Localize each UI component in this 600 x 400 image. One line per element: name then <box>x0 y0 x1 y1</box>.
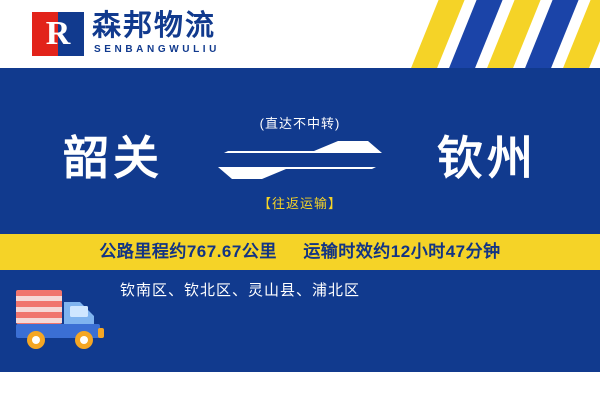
destination-city: 钦州 <box>382 123 592 193</box>
route-row: 韶关 钦州 <box>0 123 600 193</box>
duration-text: 运输时效约12小时47分钟 <box>303 242 500 261</box>
distance-text: 公路里程约767.67公里 <box>99 242 277 261</box>
brand-name-en: SENBANGWULIU <box>94 44 220 56</box>
logo-mark: R <box>32 12 84 56</box>
header: R 森邦物流 SENBANGWULIU <box>0 0 600 68</box>
delivery-truck-icon <box>14 284 110 354</box>
poster-root: R 森邦物流 SENBANGWULIU (直达不中转) 韶关 钦州 【往返运输】 <box>0 0 600 400</box>
round-trip-note: 【往返运输】 <box>204 196 396 212</box>
origin-city: 韶关 <box>8 123 218 193</box>
main-panel: (直达不中转) 韶关 钦州 【往返运输】 公路里程约767.67公里 运输时效约… <box>0 68 600 400</box>
header-stripes <box>360 0 600 68</box>
brand-name-cn: 森邦物流 <box>92 10 216 42</box>
double-arrow-icon <box>218 133 382 185</box>
info-bar: 公路里程约767.67公里 运输时效约12小时47分钟 <box>0 234 600 270</box>
bottom-strip <box>0 372 600 400</box>
coverage-districts: 钦南区、钦北区、灵山县、浦北区 <box>120 280 540 302</box>
logo-letter: R <box>32 12 84 56</box>
